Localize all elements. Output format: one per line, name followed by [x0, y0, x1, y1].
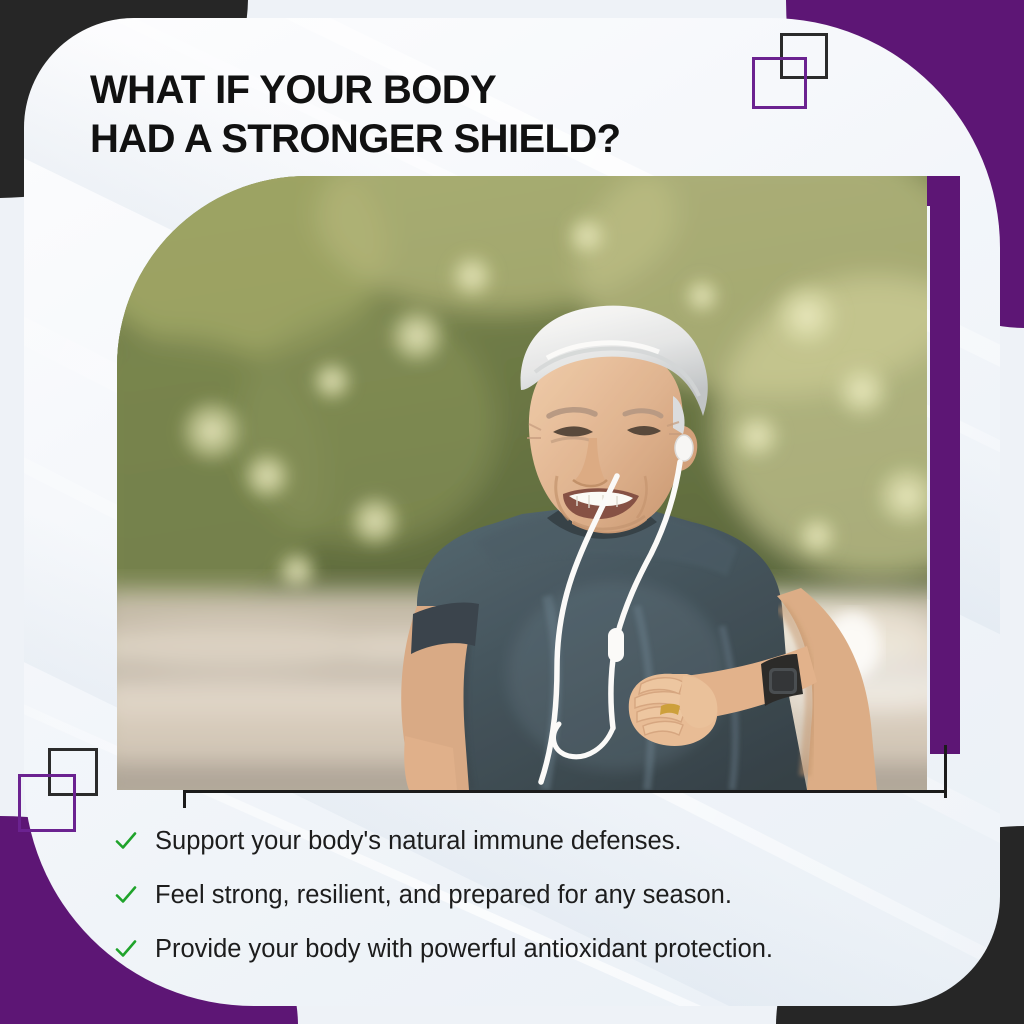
- square-outline-purple: [18, 774, 76, 832]
- decorative-squares-bottom-left: [18, 748, 110, 834]
- hero-photo: [117, 176, 927, 790]
- square-outline-purple: [752, 57, 807, 109]
- photo-bracket-frame-left: [183, 790, 186, 808]
- check-icon: [115, 830, 137, 852]
- list-item: Support your body's natural immune defen…: [115, 826, 935, 858]
- list-item: Provide your body with powerful antioxid…: [115, 934, 935, 966]
- check-icon: [115, 938, 137, 960]
- list-item: Feel strong, resilient, and prepared for…: [115, 880, 935, 912]
- photo-bracket-frame-right: [944, 745, 947, 795]
- list-item-label: Feel strong, resilient, and prepared for…: [155, 880, 732, 912]
- list-item-label: Provide your body with powerful antioxid…: [155, 934, 773, 966]
- benefit-list: Support your body's natural immune defen…: [115, 826, 935, 966]
- headline: WHAT IF YOUR BODY HAD A STRONGER SHIELD?: [90, 66, 621, 164]
- social-graphic-canvas: WHAT IF YOUR BODY HAD A STRONGER SHIELD?: [0, 0, 1024, 1024]
- check-icon: [115, 884, 137, 906]
- decorative-squares-top-right: [752, 33, 838, 111]
- photo-bracket-frame: [183, 790, 947, 798]
- list-item-label: Support your body's natural immune defen…: [155, 826, 682, 858]
